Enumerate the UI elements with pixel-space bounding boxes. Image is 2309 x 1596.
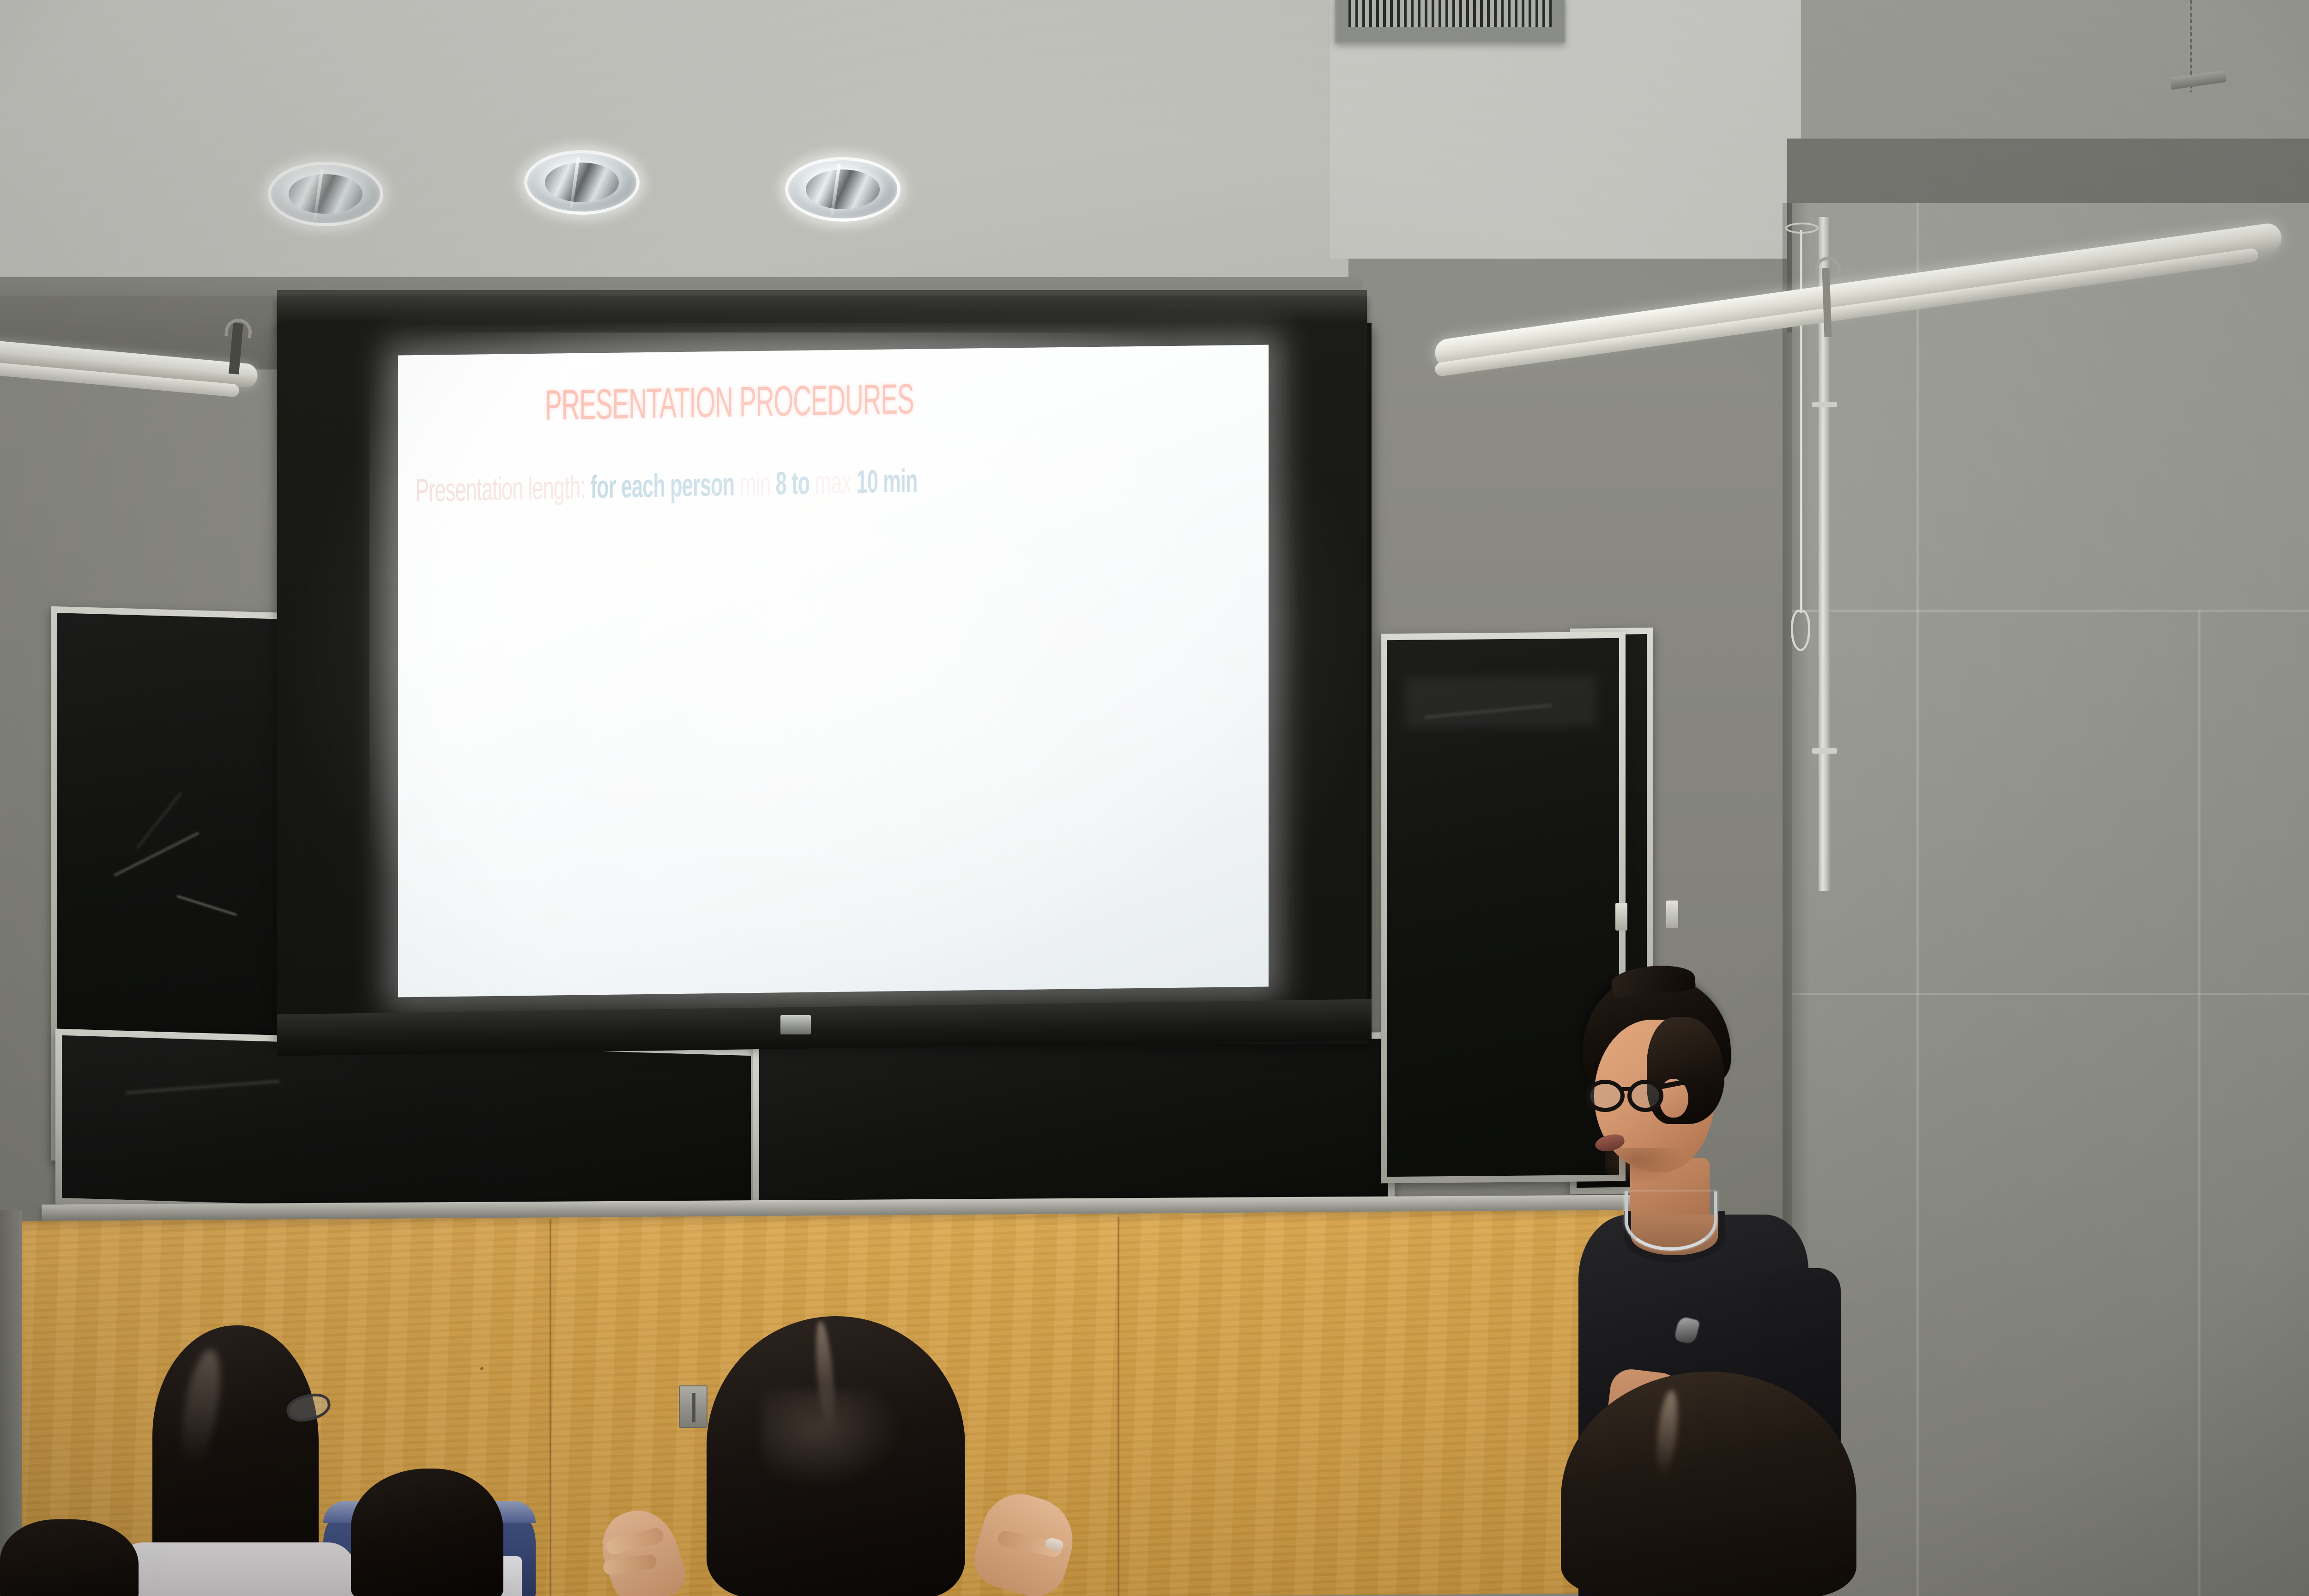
chalk-smudge	[136, 792, 181, 849]
blackboard-slide-hinge[interactable]	[1615, 903, 1627, 931]
slide-body-segment-max: max	[815, 464, 856, 501]
wall-seam-vertical	[1916, 203, 1919, 1596]
blackboard-panel-center-lower	[55, 1028, 757, 1225]
outlet-slot	[692, 1393, 695, 1422]
eyeglasses-icon	[1585, 1077, 1675, 1112]
slide-body-segment-eight: 8 to	[776, 465, 815, 502]
slide-body-segment-min: min	[739, 465, 775, 502]
ceiling-light-reflector	[545, 163, 619, 202]
slide-title: PRESENTATION PROCEDURES	[545, 376, 850, 430]
audience-member-head	[351, 1469, 503, 1596]
slide-body-segment-label: Presentation length:	[416, 469, 591, 508]
necklace-chain	[1625, 1191, 1717, 1251]
eyeglass-lens-right	[1627, 1080, 1663, 1112]
blackboard-surface	[62, 1035, 751, 1218]
right-wall-lower	[1792, 610, 2309, 1596]
eyeglass-bridge	[1622, 1087, 1633, 1091]
audience-member-shoulder	[115, 1542, 356, 1596]
hair-highlight	[762, 1390, 901, 1487]
wood-panel-seam	[550, 1219, 551, 1596]
wall-seam-horizontal	[1792, 993, 2309, 995]
slide-body-segment-ten: 10 min	[857, 463, 918, 500]
recessed-ceiling-light	[785, 157, 901, 222]
chalk-smudge	[176, 895, 237, 916]
blackboard-panel-center-right-lower	[753, 1032, 1395, 1221]
blackboard-slide-hinge[interactable]	[1666, 901, 1678, 928]
blackboard-surface	[759, 1039, 1388, 1215]
conduit-clamp	[1812, 748, 1837, 754]
lecture-hall-photo: PRESENTATION PROCEDURES Presentation len…	[0, 0, 2309, 1596]
pull-cord-loop[interactable]	[1791, 610, 1810, 651]
presenter-jaw-shadow	[1605, 1148, 1684, 1185]
hanging-pull-cord[interactable]	[1800, 230, 1802, 613]
chalk-smudge	[114, 832, 199, 877]
eyeglass-lens-left	[1586, 1080, 1625, 1112]
chalk-smudge	[126, 1080, 280, 1094]
wood-panel-seam	[1118, 1217, 1119, 1596]
wood-panel-nail	[480, 1367, 484, 1370]
slide-body-segment-person: for each person	[591, 466, 740, 505]
ceiling-main-panel	[0, 0, 1348, 296]
hvac-vent-icon	[1335, 0, 1566, 43]
wall-seam-vertical	[2198, 610, 2200, 1596]
wall-seam-horizontal	[1792, 610, 2309, 612]
vent-slats	[1348, 0, 1552, 27]
projector-screen-center-weight[interactable]	[780, 1015, 811, 1034]
recessed-ceiling-light	[268, 162, 383, 226]
ceiling-light-reflector	[289, 174, 363, 214]
recessed-ceiling-light	[524, 150, 640, 215]
chalk-smudge	[1405, 676, 1596, 728]
projector-screen-surface[interactable]	[398, 345, 1269, 997]
wall-outlet-plate[interactable]	[679, 1385, 707, 1428]
conduit-clamp	[1812, 402, 1837, 407]
ceiling-light-reflector	[806, 169, 880, 209]
